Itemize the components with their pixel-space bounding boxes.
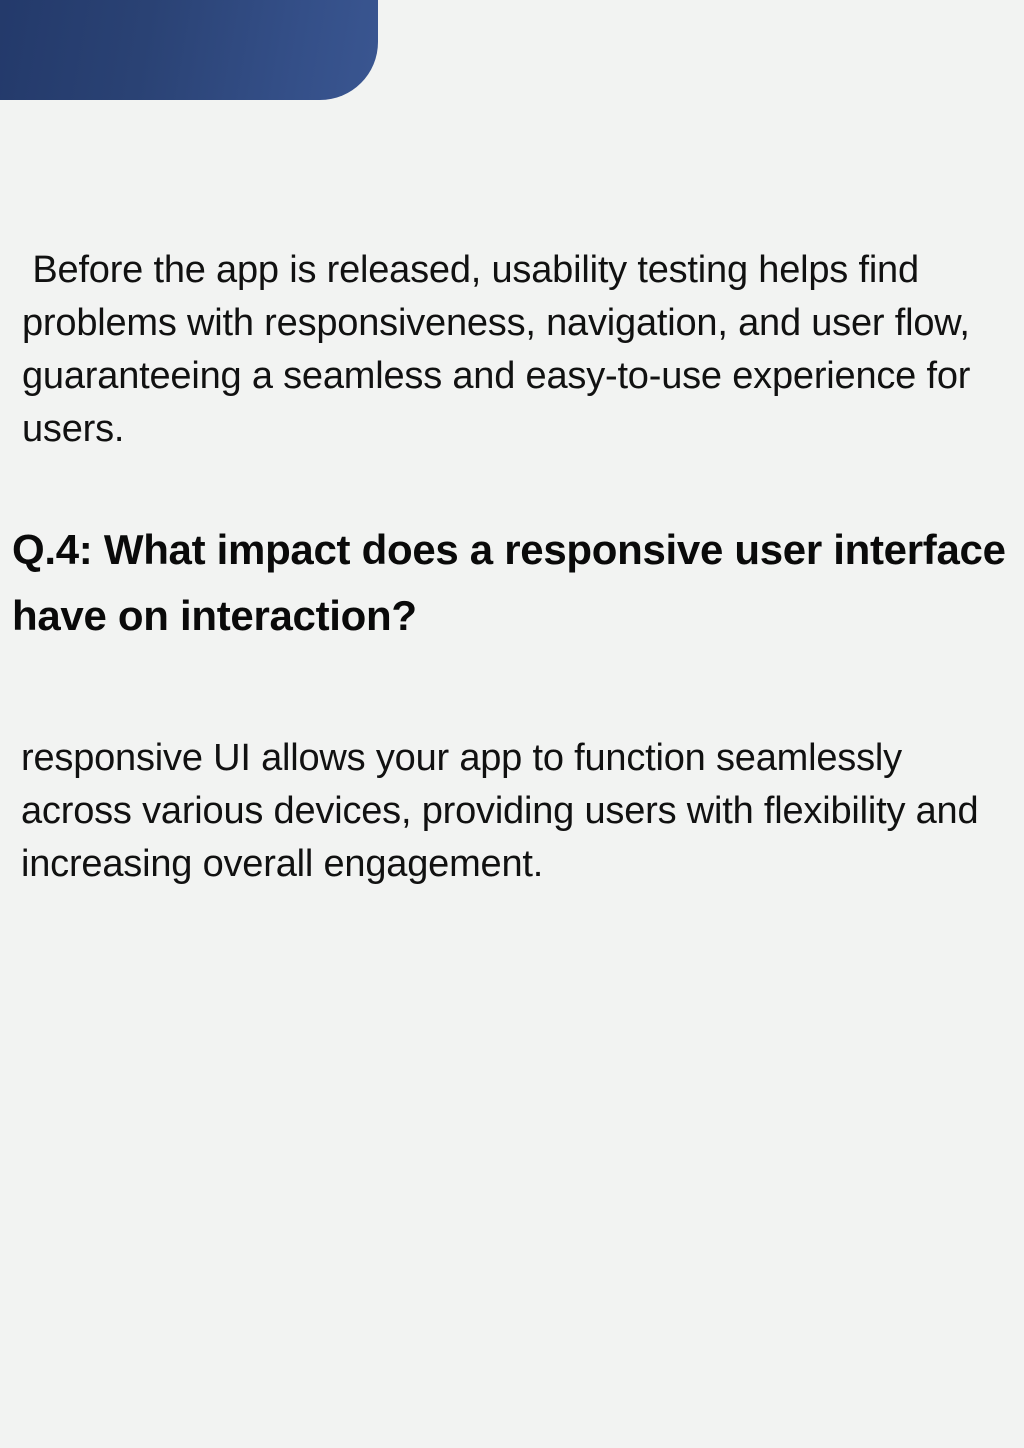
page-content: Before the app is released, usability te…: [0, 0, 1024, 1448]
answer-paragraph: responsive UI allows your app to functio…: [21, 732, 1021, 891]
intro-paragraph: Before the app is released, usability te…: [22, 244, 1024, 456]
question-heading: Q.4: What impact does a responsive user …: [12, 517, 1022, 649]
document-page: Before the app is released, usability te…: [0, 0, 1024, 1448]
